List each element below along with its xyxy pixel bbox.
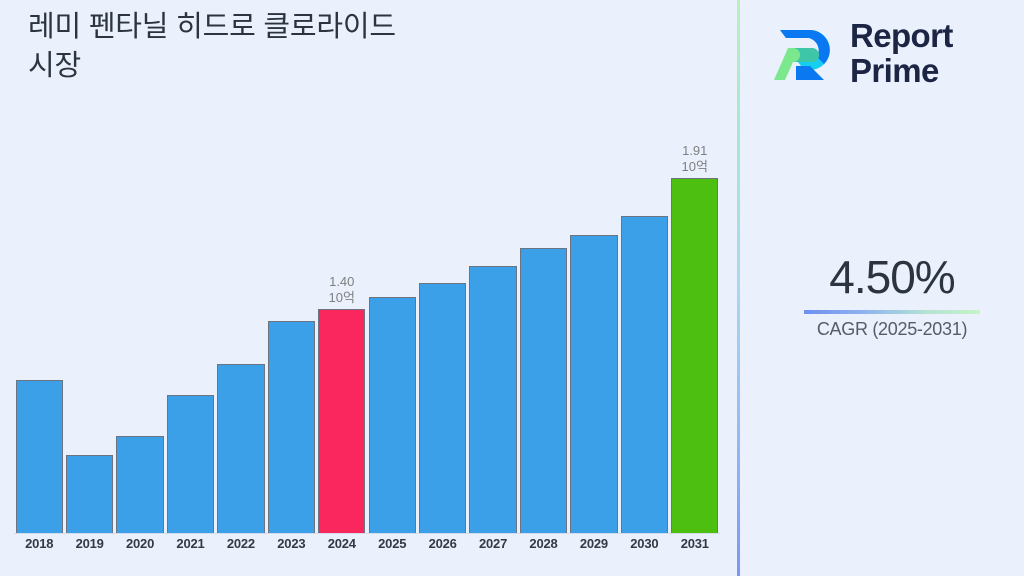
bar-slot-2023	[268, 110, 315, 533]
bar-slot-2027	[469, 110, 516, 533]
bar-2019[interactable]	[66, 455, 113, 533]
bar-value-label-2031: 1.91 10억	[682, 143, 708, 175]
x-axis-tick-2028: 2028	[518, 536, 568, 551]
bar-slot-2026	[419, 110, 466, 533]
bar-slot-2022	[217, 110, 264, 533]
bar-2025[interactable]	[369, 297, 416, 533]
bar-2018[interactable]	[16, 380, 63, 533]
x-axis-tick-2026: 2026	[417, 536, 467, 551]
bar-slot-2024: 1.40 10억	[318, 110, 365, 533]
bar-2024[interactable]	[318, 309, 365, 533]
brand-logo-text: Report Prime	[850, 19, 953, 89]
x-axis-tick-2025: 2025	[367, 536, 417, 551]
bar-2022[interactable]	[217, 364, 264, 533]
x-axis-tick-2031: 2031	[670, 536, 720, 551]
bar-2020[interactable]	[116, 436, 163, 533]
bar-slot-2029	[570, 110, 617, 533]
cagr-caption: CAGR (2025-2031)	[760, 319, 1024, 340]
bar-2028[interactable]	[520, 248, 567, 533]
x-axis-tick-2030: 2030	[619, 536, 669, 551]
x-axis-tick-2018: 2018	[14, 536, 64, 551]
infographic-page: 레미 펜타닐 히드로 클로라이드 시장 1.40 10억1.91 10억 201…	[0, 0, 1024, 576]
report-prime-logo-mark-icon	[766, 18, 838, 90]
bar-slot-2028	[520, 110, 567, 533]
bar-2023[interactable]	[268, 321, 315, 533]
x-axis-tick-2022: 2022	[216, 536, 266, 551]
bar-slot-2030	[621, 110, 668, 533]
bar-slot-2018	[16, 110, 63, 533]
bar-2029[interactable]	[570, 235, 617, 533]
bar-2021[interactable]	[167, 395, 214, 533]
bar-2026[interactable]	[419, 283, 466, 533]
x-axis-tick-2019: 2019	[64, 536, 114, 551]
bar-slot-2025	[369, 110, 416, 533]
bar-slot-2020	[116, 110, 163, 533]
panel-divider	[737, 0, 740, 576]
chart-plot-area: 1.40 10억1.91 10억	[14, 110, 720, 533]
x-axis-tick-2024: 2024	[317, 536, 367, 551]
x-axis-tick-2020: 2020	[115, 536, 165, 551]
bar-slot-2021	[167, 110, 214, 533]
cagr-divider-rule	[804, 310, 980, 314]
cagr-block: 4.50% CAGR (2025-2031)	[760, 252, 1024, 340]
bar-2031[interactable]	[671, 178, 718, 533]
x-axis-tick-2021: 2021	[165, 536, 215, 551]
brand-logo: Report Prime	[766, 12, 1006, 96]
bar-slot-2019	[66, 110, 113, 533]
bar-slot-2031: 1.91 10억	[671, 110, 718, 533]
cagr-value: 4.50%	[760, 252, 1024, 303]
bar-2027[interactable]	[469, 266, 516, 533]
chart-axis-line	[14, 533, 720, 534]
bar-chart: 1.40 10억1.91 10억 20182019202020212022202…	[0, 110, 737, 576]
page-title: 레미 펜타닐 히드로 클로라이드 시장	[28, 8, 668, 86]
x-axis-tick-2027: 2027	[468, 536, 518, 551]
bar-value-label-2024: 1.40 10억	[329, 274, 355, 306]
x-axis-tick-2029: 2029	[569, 536, 619, 551]
bar-2030[interactable]	[621, 216, 668, 533]
x-axis-tick-2023: 2023	[266, 536, 316, 551]
